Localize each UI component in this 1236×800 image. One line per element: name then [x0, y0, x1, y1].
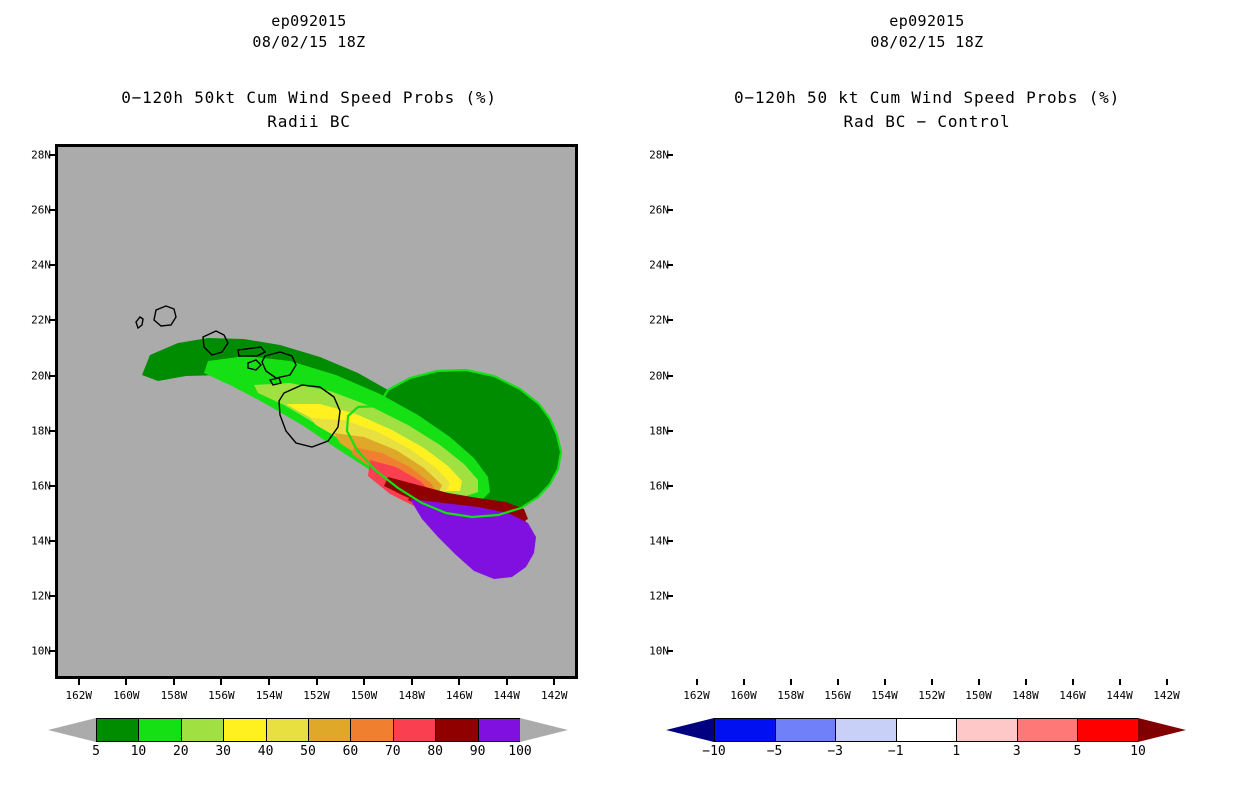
panel-left-storm-id: ep092015 — [0, 12, 618, 30]
y-tick-label: 24N — [639, 259, 669, 272]
colorbar-tick-label: 5 — [92, 744, 100, 759]
y-tick-label: 26N — [639, 204, 669, 217]
x-tick-label: 152W — [303, 689, 330, 702]
x-tick-mark — [790, 679, 792, 685]
x-tick-label: 162W — [683, 689, 710, 702]
y-tick-label: 20N — [21, 369, 51, 382]
colorbar-segment[interactable] — [350, 718, 392, 742]
x-tick-mark — [1166, 679, 1168, 685]
x-tick-label: 154W — [256, 689, 283, 702]
x-tick-mark — [553, 679, 555, 685]
y-tick-mark — [667, 264, 673, 266]
x-tick-mark — [268, 679, 270, 685]
panel-right-subtitle: Rad BC − Control — [618, 112, 1236, 131]
y-tick-mark — [49, 540, 55, 542]
colorbar-segment[interactable] — [96, 718, 138, 742]
y-tick-label: 10N — [21, 645, 51, 658]
x-tick-label: 144W — [1106, 689, 1133, 702]
colorbar-segment[interactable] — [956, 718, 1017, 742]
y-tick-label: 22N — [21, 314, 51, 327]
colorbar-segment[interactable] — [714, 718, 775, 742]
y-tick-label: 28N — [21, 149, 51, 162]
colorbar-tick-label: 10 — [1130, 744, 1146, 759]
colorbar-tick-label: 70 — [385, 744, 401, 759]
y-tick-mark — [667, 319, 673, 321]
y-tick-mark — [49, 264, 55, 266]
y-tick-label: 14N — [21, 535, 51, 548]
map-plot-area-left — [55, 144, 578, 679]
x-tick-mark — [458, 679, 460, 685]
panel-radii-bc: ep092015 08/02/15 18Z 0−120h 50kt Cum Wi… — [0, 0, 618, 800]
y-tick-label: 18N — [639, 424, 669, 437]
colorbar-segment[interactable] — [1077, 718, 1138, 742]
y-tick-label: 26N — [21, 204, 51, 217]
colorbar-tick-label: 80 — [427, 744, 443, 759]
colorbar-segment[interactable] — [896, 718, 957, 742]
x-tick-mark — [316, 679, 318, 685]
colorbar-tick-label: 90 — [470, 744, 486, 759]
colorbar-tick-label: 30 — [215, 744, 231, 759]
colorbar-arrow-low — [666, 718, 714, 742]
colorbar-left[interactable]: 5102030405060708090100 — [48, 718, 568, 742]
colorbar-tick-label: 10 — [131, 744, 147, 759]
y-tick-label: 16N — [639, 479, 669, 492]
x-tick-mark — [125, 679, 127, 685]
y-tick-mark — [49, 154, 55, 156]
colorbar-tick-label: 100 — [508, 744, 531, 759]
y-tick-mark — [49, 595, 55, 597]
colorbar-arrow-low — [48, 718, 96, 742]
colorbar-tick-label: 20 — [173, 744, 189, 759]
colorbar-segment[interactable] — [223, 718, 265, 742]
colorbar-tick-label: −5 — [767, 744, 783, 759]
x-tick-mark — [363, 679, 365, 685]
x-tick-mark — [837, 679, 839, 685]
x-tick-mark — [1025, 679, 1027, 685]
y-tick-mark — [667, 540, 673, 542]
x-tick-mark — [411, 679, 413, 685]
x-tick-label: 150W — [351, 689, 378, 702]
colorbar-segment[interactable] — [478, 718, 520, 742]
y-tick-mark — [49, 319, 55, 321]
x-tick-label: 162W — [66, 689, 93, 702]
x-tick-mark — [931, 679, 933, 685]
island-kauai — [154, 306, 176, 326]
y-tick-label: 10N — [639, 645, 669, 658]
y-tick-mark — [667, 209, 673, 211]
island-niihau — [136, 317, 143, 328]
x-tick-label: 154W — [871, 689, 898, 702]
colorbar-tick-label: 5 — [1074, 744, 1082, 759]
x-tick-label: 156W — [208, 689, 235, 702]
colorbar-segment[interactable] — [835, 718, 896, 742]
y-tick-label: 28N — [639, 149, 669, 162]
y-tick-label: 12N — [21, 590, 51, 603]
x-tick-label: 160W — [730, 689, 757, 702]
x-tick-label: 156W — [824, 689, 851, 702]
y-tick-label: 20N — [639, 369, 669, 382]
y-tick-mark — [49, 430, 55, 432]
y-tick-label: 18N — [21, 424, 51, 437]
x-tick-mark — [743, 679, 745, 685]
colorbar-tick-label: 3 — [1013, 744, 1021, 759]
x-tick-label: 150W — [965, 689, 992, 702]
colorbar-segment[interactable] — [1017, 718, 1078, 742]
y-tick-mark — [667, 375, 673, 377]
y-tick-mark — [667, 595, 673, 597]
colorbar-arrow-high — [520, 718, 568, 742]
x-tick-mark — [884, 679, 886, 685]
panel-right-datetime: 08/02/15 18Z — [618, 33, 1236, 51]
x-tick-label: 146W — [446, 689, 473, 702]
y-tick-mark — [667, 485, 673, 487]
x-tick-mark — [220, 679, 222, 685]
x-tick-label: 142W — [541, 689, 568, 702]
y-tick-mark — [49, 209, 55, 211]
y-tick-label: 24N — [21, 259, 51, 272]
colorbar-segment[interactable] — [181, 718, 223, 742]
x-tick-label: 144W — [493, 689, 520, 702]
figure-canvas: ep092015 08/02/15 18Z 0−120h 50kt Cum Wi… — [0, 0, 1236, 800]
colorbar-tick-label: 50 — [300, 744, 316, 759]
y-tick-label: 22N — [639, 314, 669, 327]
x-tick-mark — [696, 679, 698, 685]
x-tick-label: 146W — [1059, 689, 1086, 702]
x-tick-label: 152W — [918, 689, 945, 702]
x-tick-label: 148W — [398, 689, 425, 702]
colorbar-tick-label: 60 — [343, 744, 359, 759]
y-tick-mark — [49, 375, 55, 377]
x-tick-mark — [978, 679, 980, 685]
x-tick-label: 142W — [1153, 689, 1180, 702]
colorbar-segment[interactable] — [308, 718, 350, 742]
x-tick-mark — [78, 679, 80, 685]
map-contours-left — [58, 147, 575, 676]
y-tick-mark — [667, 650, 673, 652]
y-tick-label: 14N — [639, 535, 669, 548]
colorbar-tick-label: 40 — [258, 744, 274, 759]
panel-left-datetime: 08/02/15 18Z — [0, 33, 618, 51]
colorbar-segment[interactable] — [266, 718, 308, 742]
panel-left-title: 0−120h 50kt Cum Wind Speed Probs (%) — [0, 88, 618, 107]
x-tick-label: 158W — [161, 689, 188, 702]
colorbar-tick-label: −3 — [827, 744, 843, 759]
y-tick-mark — [667, 430, 673, 432]
panel-right-storm-id: ep092015 — [618, 12, 1236, 30]
colorbar-segment[interactable] — [138, 718, 180, 742]
y-tick-label: 16N — [21, 479, 51, 492]
colorbar-segment[interactable] — [435, 718, 477, 742]
x-tick-label: 148W — [1012, 689, 1039, 702]
x-tick-label: 158W — [777, 689, 804, 702]
x-tick-mark — [506, 679, 508, 685]
x-tick-mark — [1072, 679, 1074, 685]
y-tick-mark — [49, 485, 55, 487]
panel-right-title: 0−120h 50 kt Cum Wind Speed Probs (%) — [618, 88, 1236, 107]
y-tick-label: 12N — [639, 590, 669, 603]
panel-left-subtitle: Radii BC — [0, 112, 618, 131]
colorbar-right[interactable]: −10−5−3−113510 — [666, 718, 1186, 742]
panel-rad-bc-minus-control: ep092015 08/02/15 18Z 0−120h 50 kt Cum W… — [618, 0, 1236, 800]
colorbar-tick-label: 1 — [952, 744, 960, 759]
colorbar-tick-label: −10 — [702, 744, 725, 759]
colorbar-segment[interactable] — [775, 718, 836, 742]
colorbar-arrow-high — [1138, 718, 1186, 742]
x-tick-mark — [173, 679, 175, 685]
y-tick-mark — [667, 154, 673, 156]
colorbar-tick-label: −1 — [888, 744, 904, 759]
x-tick-label: 160W — [113, 689, 140, 702]
y-tick-mark — [49, 650, 55, 652]
colorbar-segment[interactable] — [393, 718, 435, 742]
x-tick-mark — [1119, 679, 1121, 685]
